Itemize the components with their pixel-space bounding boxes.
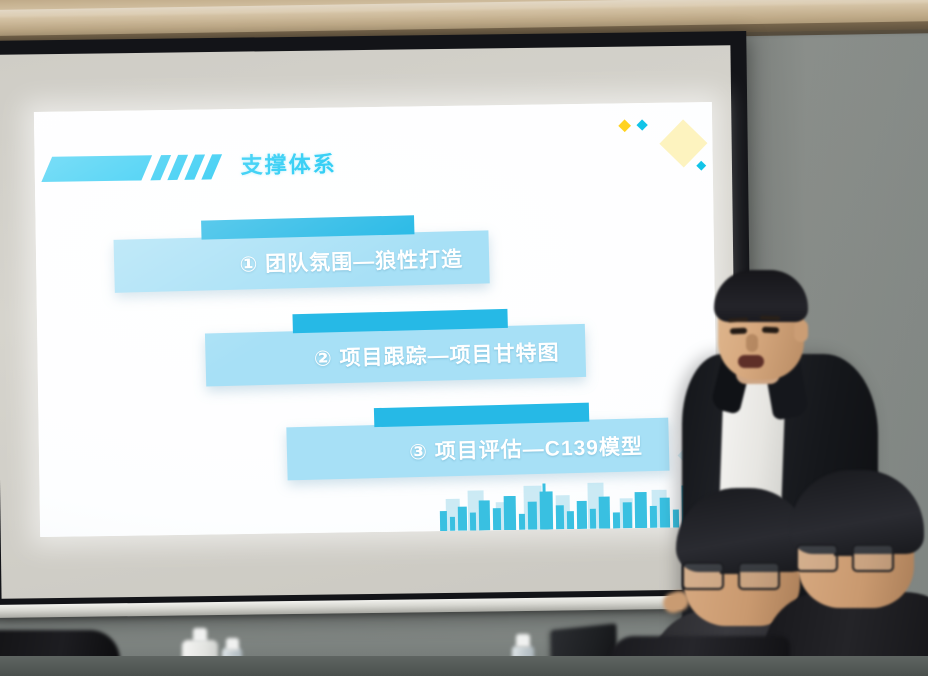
water-bottle-left-cap bbox=[226, 638, 239, 650]
presenter-hair bbox=[714, 270, 808, 322]
slide-title: 支撑体系 bbox=[241, 154, 337, 177]
presenter-eye-left bbox=[730, 328, 747, 335]
presenter-nose bbox=[746, 334, 758, 352]
slide-title-row: 支撑体系 bbox=[40, 148, 336, 186]
presenter-eyebrow-right bbox=[760, 316, 780, 321]
water-bottle-center-cap bbox=[516, 634, 530, 647]
slide-item-2-label: ② 项目跟踪—项目甘特图 bbox=[205, 324, 586, 387]
presenter-eye-right bbox=[762, 327, 779, 334]
conference-room-photo: 支撑体系 ① 团队氛围—狼性打造 ② 项目跟踪—项目甘特图 ③ 项目评估—C13… bbox=[0, 0, 928, 676]
thermos-lid bbox=[193, 628, 207, 642]
slide-item-2: ② 项目跟踪—项目甘特图 bbox=[205, 324, 586, 387]
slide-item-1-label: ① 团队氛围—狼性打造 bbox=[114, 230, 490, 292]
conference-table-edge bbox=[0, 656, 928, 676]
attendee-right-hair bbox=[790, 470, 924, 554]
attendee-right-glasses-icon bbox=[796, 544, 900, 570]
projected-slide: 支撑体系 ① 团队氛围—狼性打造 ② 项目跟踪—项目甘特图 ③ 项目评估—C13… bbox=[34, 102, 718, 537]
presenter-ear bbox=[794, 320, 808, 342]
title-slash-decor-icon bbox=[156, 154, 217, 180]
slide-item-1: ① 团队氛围—狼性打造 bbox=[114, 230, 490, 292]
attendee-right bbox=[786, 480, 928, 676]
attendee-left-glasses-icon bbox=[682, 562, 786, 588]
title-accent-bar-icon bbox=[41, 155, 152, 182]
presenter-mouth bbox=[738, 355, 764, 368]
